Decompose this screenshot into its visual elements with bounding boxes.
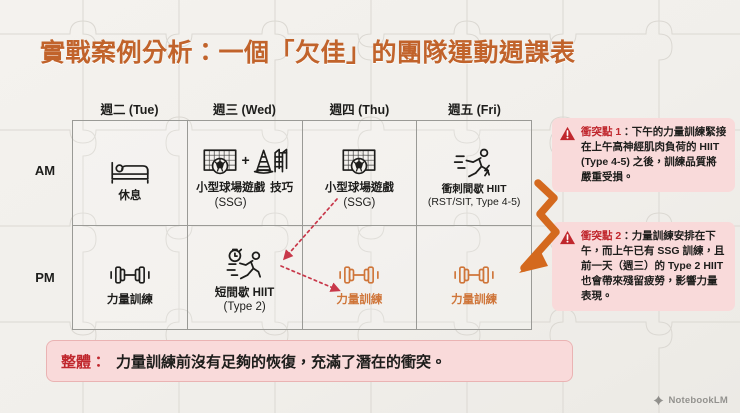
bed-icon (109, 155, 151, 185)
cell-wed-pm[interactable]: 短間歇 HIIT (Type 2) (188, 226, 303, 330)
cell-wed-am[interactable]: + 小型球場遊戲 (SSG) 技巧 (188, 121, 303, 225)
cell-fri-am-icons (453, 137, 495, 179)
cell-fri-am-sub: (RST/SIT, Type 4-5) (428, 196, 521, 209)
table-row-pm: 力量訓練 短間歇 HIIT (73, 226, 531, 330)
cell-wed-am-title: 小型球場遊戲 (196, 182, 265, 194)
notebooklm-logo-icon (653, 395, 664, 406)
stopwatch-runner-icon (224, 248, 266, 282)
cell-wed-am-labels: 小型球場遊戲 (SSG) 技巧 (196, 181, 293, 210)
dumbbell-icon (452, 261, 496, 289)
conflict-callout-1: 衝突點 1：下午的力量訓練緊接在上午高神經肌肉負荷的 HIIT (Type 4-… (552, 118, 735, 192)
weekly-schedule-table: 休息 + (72, 120, 532, 330)
cone-ladder-icon (253, 145, 289, 177)
row-label-am: AM (24, 163, 66, 178)
cell-thu-pm-label: 力量訓練 (336, 293, 382, 307)
cell-fri-am-label: 衝刺間歇 HIIT (RST/SIT, Type 4-5) (428, 183, 521, 209)
plus-sign: + (242, 152, 250, 177)
cell-wed-pm-icons (224, 240, 266, 282)
cell-thu-am-sub: (SSG) (325, 196, 394, 210)
day-header-row: 週二 (Tue) 週三 (Wed) 週四 (Thu) 週五 (Fri) (72, 99, 532, 118)
cell-fri-pm-label: 力量訓練 (451, 293, 497, 307)
row-label-pm: PM (24, 270, 66, 285)
cell-wed-am-sub: (SSG) (196, 196, 265, 210)
cell-thu-am[interactable]: 小型球場遊戲 (SSG) (303, 121, 418, 225)
cell-tue-am-label: 休息 (118, 189, 141, 203)
summary-text: 力量訓練前沒有足夠的恢復，充滿了潛在的衝突。 (116, 351, 446, 372)
cell-wed-am-extra-label: 技巧 (270, 181, 293, 195)
cell-thu-am-icons (340, 135, 378, 177)
dumbbell-icon (108, 261, 152, 289)
cell-tue-pm-icons (108, 247, 152, 289)
watermark: NotebookLM (653, 395, 728, 406)
conflict-callout-2-text: 衝突點 2：力量訓練安排在下午，而上午已有 SSG 訓練，且前一天（週三）的 T… (581, 229, 727, 304)
day-header-wed: 週三 (Wed) (187, 99, 302, 118)
watermark-text: NotebookLM (668, 395, 728, 406)
cell-tue-am-icons (109, 143, 151, 185)
conflict-callout-1-lead: 衝突點 1 (581, 126, 621, 138)
cell-wed-am-label: 小型球場遊戲 (SSG) (196, 181, 265, 210)
summary-bar: 整體： 力量訓練前沒有足夠的恢復，充滿了潛在的衝突。 (46, 340, 573, 382)
warning-triangle-icon (559, 126, 576, 141)
cell-fri-pm[interactable]: 力量訓練 (417, 226, 531, 330)
conflict-callout-2-lead: 衝突點 2 (581, 230, 621, 242)
cell-thu-am-title: 小型球場遊戲 (325, 182, 394, 194)
sprinting-runner-icon (453, 147, 495, 179)
cell-wed-pm-label: 短間歇 HIIT (Type 2) (215, 286, 274, 315)
cell-thu-pm[interactable]: 力量訓練 (303, 226, 418, 330)
soccer-goal-icon (201, 145, 239, 177)
cell-wed-am-icons: + (201, 135, 289, 177)
cell-wed-pm-title: 短間歇 HIIT (215, 287, 274, 299)
conflict-callout-1-text: 衝突點 1：下午的力量訓練緊接在上午高神經肌肉負荷的 HIIT (Type 4-… (581, 125, 727, 185)
cell-thu-am-label: 小型球場遊戲 (SSG) (325, 181, 394, 210)
conflict-callout-2: 衝突點 2：力量訓練安排在下午，而上午已有 SSG 訓練，且前一天（週三）的 T… (552, 222, 735, 311)
cell-fri-pm-icons (452, 247, 496, 289)
dumbbell-icon (337, 261, 381, 289)
warning-triangle-icon (559, 230, 576, 245)
cell-tue-am[interactable]: 休息 (73, 121, 188, 225)
cell-thu-pm-icons (337, 247, 381, 289)
cell-tue-pm-label: 力量訓練 (107, 293, 153, 307)
day-header-thu: 週四 (Thu) (302, 99, 417, 118)
cell-fri-am-title: 衝刺間歇 HIIT (442, 183, 507, 195)
day-header-fri: 週五 (Fri) (417, 99, 532, 118)
soccer-goal-icon (340, 145, 378, 177)
table-row-am: 休息 + (73, 121, 531, 226)
page-title: 實戰案例分析：一個「欠佳」的團隊運動週課表 (40, 33, 576, 69)
cell-fri-am[interactable]: 衝刺間歇 HIIT (RST/SIT, Type 4-5) (417, 121, 531, 225)
day-header-tue: 週二 (Tue) (72, 99, 187, 118)
cell-wed-pm-sub: (Type 2) (215, 300, 274, 314)
cell-tue-pm[interactable]: 力量訓練 (73, 226, 188, 330)
summary-label: 整體： (61, 351, 106, 372)
